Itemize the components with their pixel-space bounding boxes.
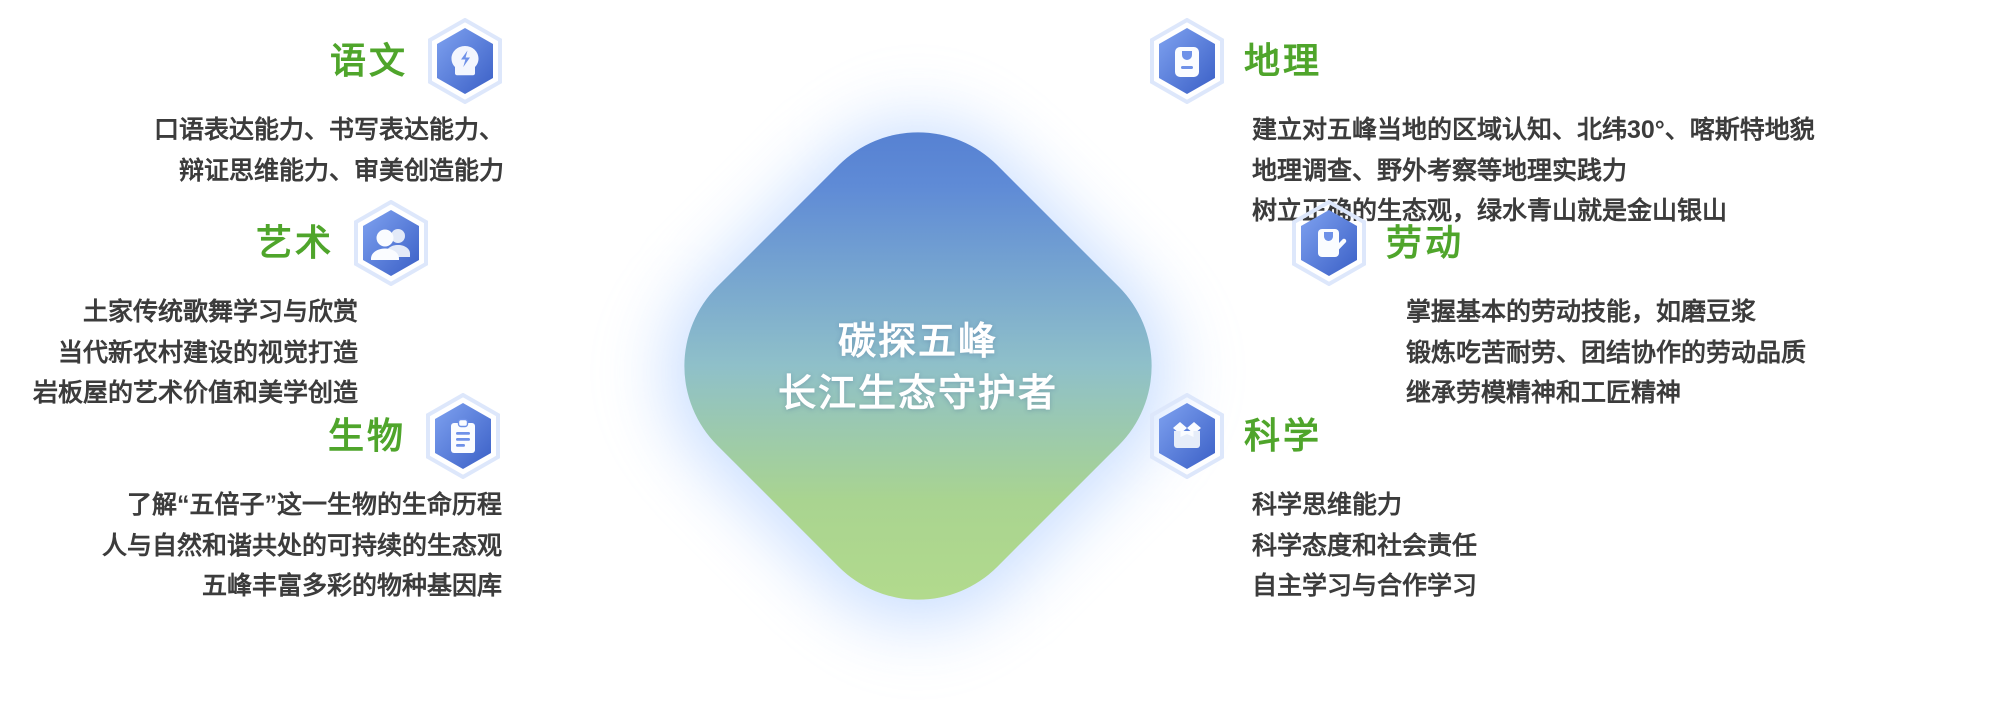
subject-line: 土家传统歌舞学习与欣赏 (0, 292, 358, 333)
subject-line: 掌握基本的劳动技能，如磨豆浆 (1406, 292, 2000, 333)
central-badge: 碳探五峰 长江生态守护者 (688, 138, 1148, 598)
subject-line: 辩证思维能力、审美创造能力 (60, 151, 504, 192)
subject-block-labor: 劳动 掌握基本的劳动技能，如磨豆浆 锻炼吃苦耐劳、团结协作的劳动品质 继承劳模精… (1290, 200, 2000, 414)
badge-title-line-1: 碳探五峰 (838, 316, 998, 368)
infographic-canvas: 碳探五峰 长江生态守护者 语文 (0, 0, 2000, 724)
subject-line: 建立对五峰当地的区域认知、北纬30°、喀斯特地貌 (1252, 110, 2000, 151)
subject-header-chinese: 语文 (60, 18, 504, 104)
subject-line: 口语表达能力、书写表达能力、 (60, 110, 504, 151)
head-lightning-icon (426, 18, 504, 104)
subject-block-art: 艺术 土家传统歌舞学习与欣赏 当代 (0, 200, 560, 414)
subject-line: 科学思维能力 (1252, 485, 1848, 526)
subject-title-science: 科学 (1244, 418, 1322, 454)
document-check-icon (1290, 200, 1368, 286)
card-document-icon (1148, 18, 1226, 104)
subject-header-labor: 劳动 (1290, 200, 2000, 286)
clipboard-icon (424, 393, 502, 479)
subject-line: 人与自然和谐共处的可持续的生态观 (0, 526, 502, 567)
subject-block-chinese: 语文 口语表达能力、书写表达能力、 辩证思维能力、审美创造能力 (60, 18, 560, 191)
subject-title-art: 艺术 (256, 225, 334, 261)
users-icon (352, 200, 430, 286)
subject-header-geography: 地理 (1148, 18, 2000, 104)
subject-title-chinese: 语文 (330, 43, 408, 79)
subject-title-biology: 生物 (328, 418, 406, 454)
open-box-icon (1148, 393, 1226, 479)
subject-lines-chinese: 口语表达能力、书写表达能力、 辩证思维能力、审美创造能力 (60, 110, 504, 191)
subject-block-biology: 生物 了解“五倍子”这一 (0, 393, 560, 607)
subject-lines-biology: 了解“五倍子”这一生物的生命历程 人与自然和谐共处的可持续的生态观 五峰丰富多彩… (0, 485, 502, 607)
badge-title: 碳探五峰 长江生态守护者 (688, 138, 1148, 598)
subject-line: 当代新农村建设的视觉打造 (0, 333, 358, 374)
subject-line: 锻炼吃苦耐劳、团结协作的劳动品质 (1406, 333, 2000, 374)
badge-title-line-2: 长江生态守护者 (778, 368, 1058, 420)
subject-lines-science: 科学思维能力 科学态度和社会责任 自主学习与合作学习 (1252, 485, 1848, 607)
subject-line: 五峰丰富多彩的物种基因库 (0, 566, 502, 607)
subject-line: 了解“五倍子”这一生物的生命历程 (0, 485, 502, 526)
subject-block-science: 科学 科学思维能力 科学态度和社会责任 自主学习与合作学习 (1148, 393, 1848, 607)
subject-line: 科学态度和社会责任 (1252, 526, 1848, 567)
subject-line: 地理调查、野外考察等地理实践力 (1252, 151, 2000, 192)
subject-title-geography: 地理 (1244, 43, 1322, 79)
subject-line: 自主学习与合作学习 (1252, 566, 1848, 607)
subject-header-biology: 生物 (0, 393, 502, 479)
subject-header-science: 科学 (1148, 393, 1848, 479)
subject-header-art: 艺术 (0, 200, 430, 286)
subject-title-labor: 劳动 (1386, 225, 1464, 261)
